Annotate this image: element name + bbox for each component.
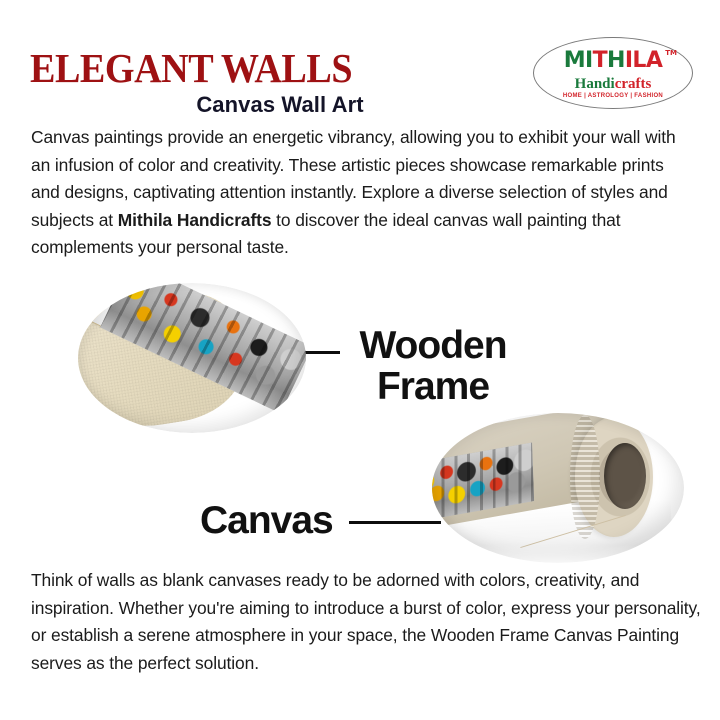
page-title: ELEGANT WALLS xyxy=(30,48,352,89)
logo-subtitle-part2: crafts xyxy=(615,76,652,92)
intro-paragraph: Canvas paintings provide an energetic vi… xyxy=(31,124,696,262)
logo-wordmark-part3: H xyxy=(607,48,625,73)
canvas-roll-layered-edges xyxy=(570,415,600,539)
bottom-fade-overlay xyxy=(0,545,720,571)
trademark-icon: TM xyxy=(665,49,677,57)
callout-canvas: Canvas xyxy=(200,500,333,541)
rolled-canvas-photo xyxy=(432,413,684,563)
callout-wooden-frame: Wooden Frame xyxy=(333,325,533,407)
logo-tagline: HOME | ASTROLOGY | FASHION xyxy=(533,93,693,99)
logo-wordmark-part4: ILA xyxy=(625,48,662,73)
leader-line-canvas xyxy=(349,521,441,524)
brand-mention: Mithila Handicrafts xyxy=(118,210,272,230)
callout-wooden-frame-line1: Wooden xyxy=(333,325,533,366)
callout-wooden-frame-line2: Frame xyxy=(333,366,533,407)
logo-subtitle-part1: Handi xyxy=(575,76,615,92)
page-subtitle: Canvas Wall Art xyxy=(0,92,560,118)
infographic-page: ELEGANT WALLS Canvas Wall Art MITHILA TM… xyxy=(0,0,720,720)
wooden-frame-photo xyxy=(78,283,306,433)
outro-paragraph: Think of walls as blank canvases ready t… xyxy=(31,567,703,677)
logo-subtitle: Handicrafts xyxy=(533,77,693,92)
logo-wordmark-part1: MI xyxy=(564,48,593,73)
canvas-roll-core xyxy=(604,443,646,509)
mithila-handicrafts-logo: MITHILA TM Handicrafts HOME | ASTROLOGY … xyxy=(533,37,693,109)
logo-wordmark-part2: T xyxy=(593,48,607,73)
